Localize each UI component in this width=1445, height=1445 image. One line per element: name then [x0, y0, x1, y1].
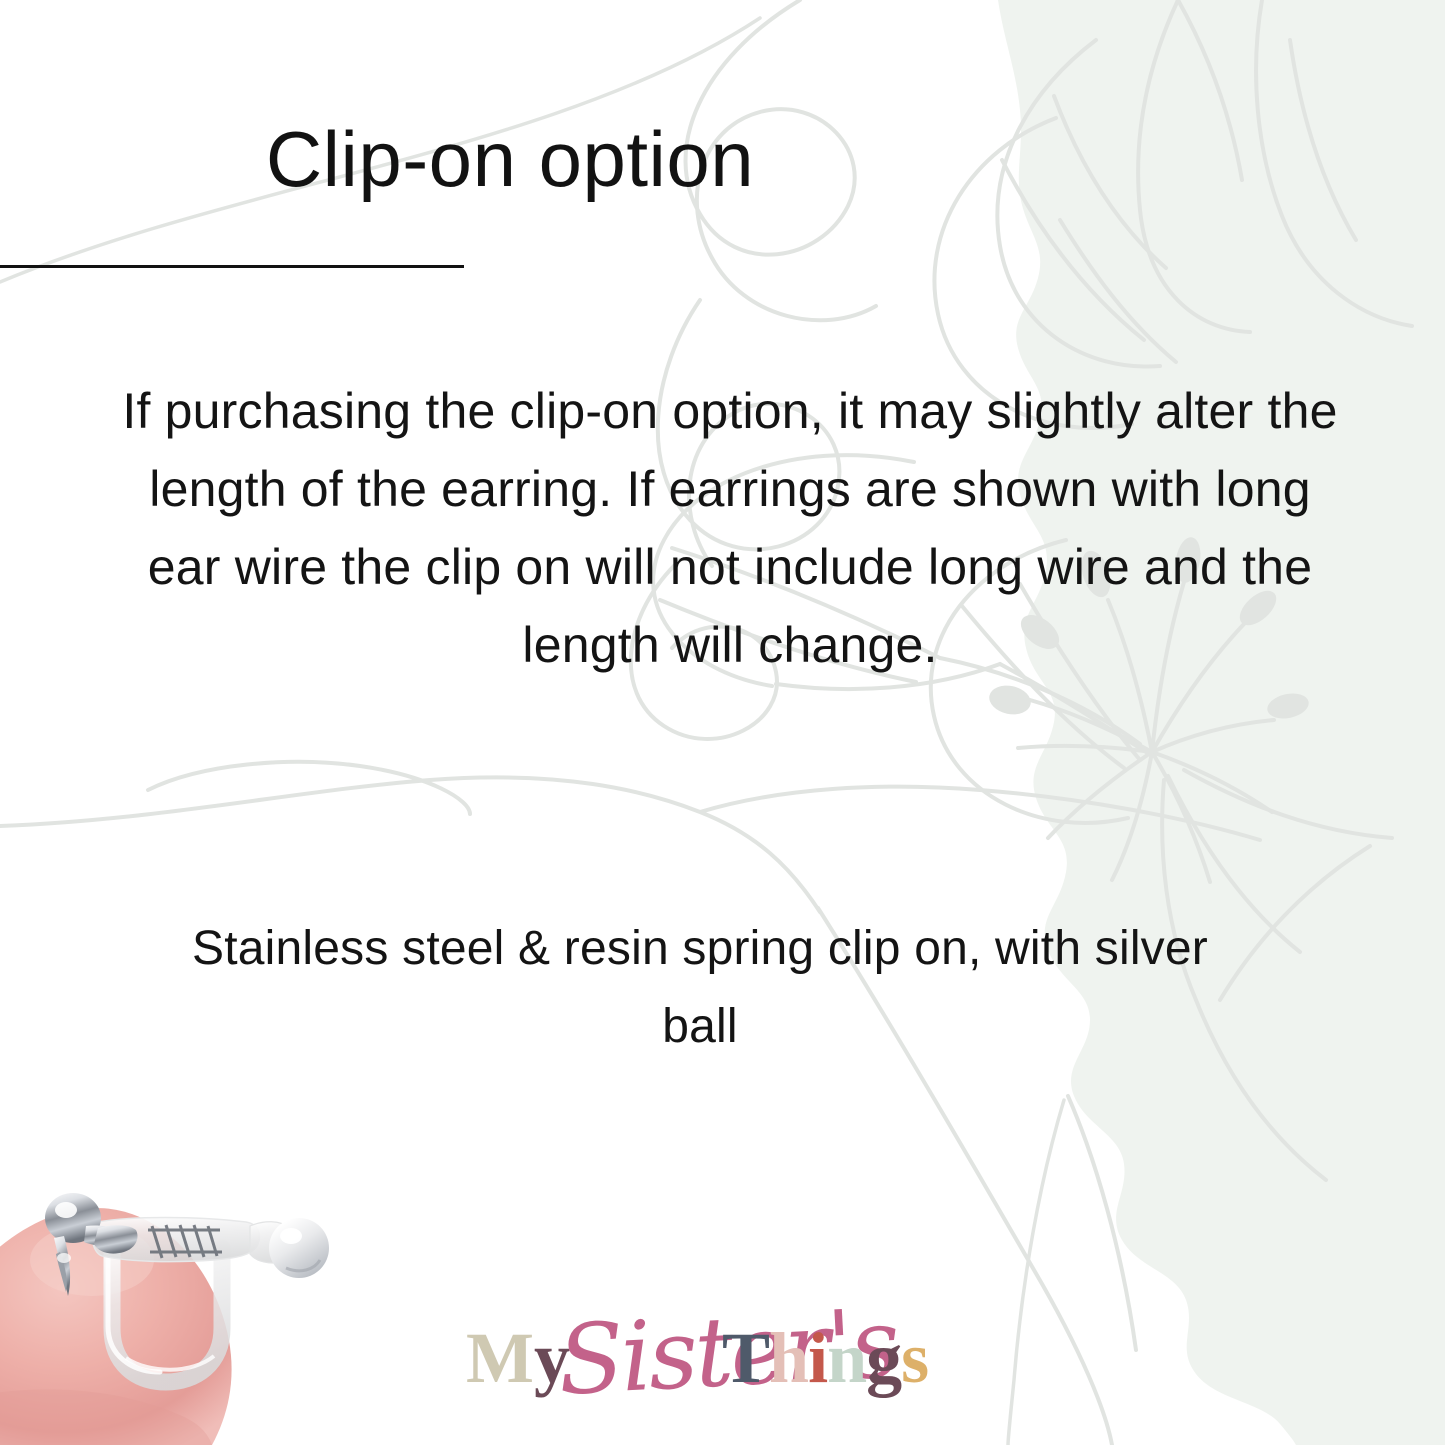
logo-letter-n: n: [827, 1318, 866, 1398]
title-divider-rule: [0, 265, 464, 268]
logo-letter-h: h: [769, 1318, 808, 1398]
intro-paragraph: If purchasing the clip-on option, it may…: [110, 372, 1350, 684]
product-photo-clip-on-fitting: [0, 1168, 340, 1445]
logo-letter-g: g: [866, 1318, 901, 1398]
logo-letter-t: T: [722, 1318, 769, 1398]
logo-letter-i: i: [808, 1318, 827, 1398]
brand-logo: My Sister's Things: [466, 1300, 982, 1412]
logo-word-things: Things: [722, 1322, 928, 1394]
page-title: Clip-on option: [0, 120, 1020, 198]
mint-organic-panel: [998, 0, 1445, 1445]
logo-word-my: My: [466, 1322, 570, 1394]
material-description-paragraph: Stainless steel & resin spring clip on, …: [180, 910, 1220, 1066]
logo-letter-m: M: [466, 1318, 534, 1398]
silver-ball: [250, 1218, 329, 1278]
logo-letter-s: s: [901, 1318, 928, 1398]
poster-canvas: Clip-on option If purchasing the clip-on…: [0, 0, 1445, 1445]
